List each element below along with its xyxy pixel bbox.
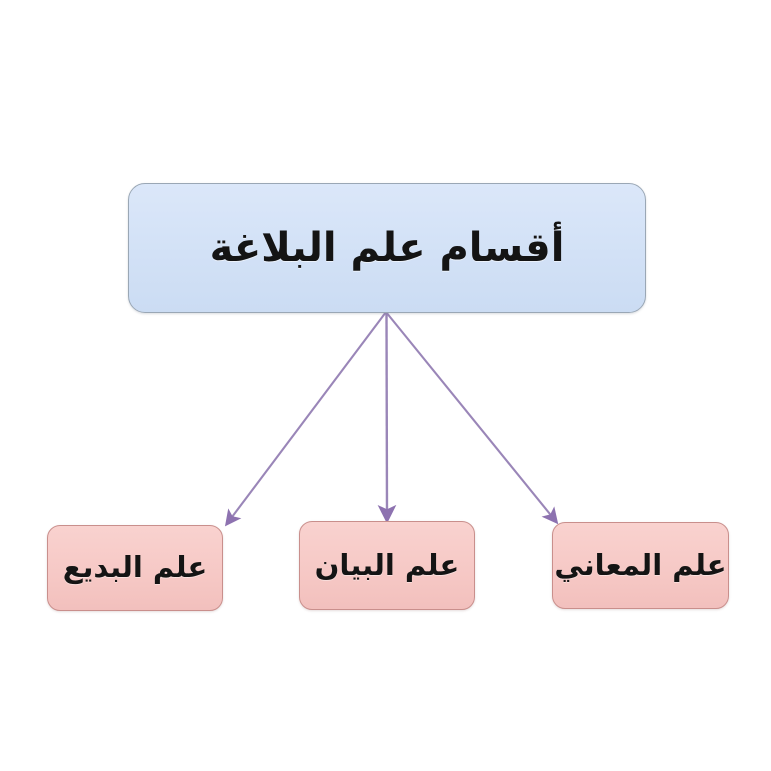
arrow-to-maani: [386, 312, 554, 519]
diagram-canvas: أقسام علم البلاغة علم البديع علم البيان …: [0, 0, 771, 771]
node-ilm-al-badee[interactable]: علم البديع: [47, 525, 223, 611]
node-ilm-al-maani[interactable]: علم المعاني: [552, 522, 729, 609]
node-root-label: أقسام علم البلاغة: [129, 225, 645, 271]
node-ilm-al-bayan[interactable]: علم البيان: [299, 521, 475, 610]
connector-layer: [0, 0, 771, 771]
node-root-rhetoric-divisions[interactable]: أقسام علم البلاغة: [128, 183, 646, 313]
arrow-to-bayan: [387, 312, 388, 516]
node-ilm-al-bayan-label: علم البيان: [300, 549, 474, 582]
arrow-to-badee: [229, 312, 386, 521]
node-ilm-al-maani-label: علم المعاني: [553, 549, 728, 582]
node-ilm-al-badee-label: علم البديع: [48, 551, 222, 584]
